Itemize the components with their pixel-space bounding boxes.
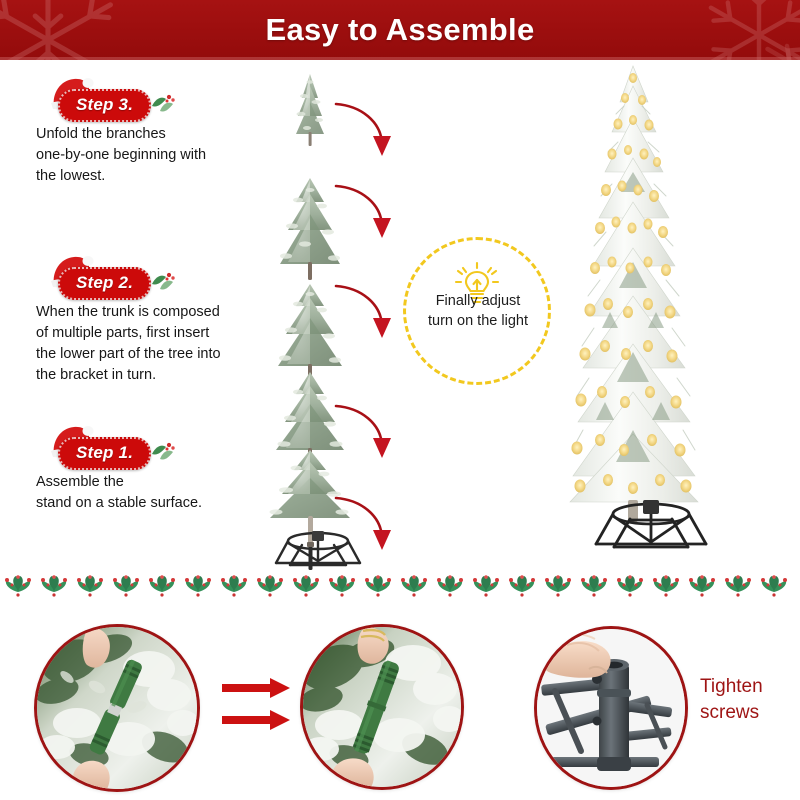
step-description-1: Assemble the stand on a stable surface.	[36, 472, 262, 514]
step-line: one-by-one beginning with	[36, 145, 262, 166]
holly-garland-pattern	[0, 572, 800, 598]
infographic-page: Easy to Assemble Step 3. Unfold the bran…	[0, 0, 800, 800]
step-line: When the trunk is composed	[36, 302, 262, 323]
flocked-branch-section-icon	[280, 178, 340, 280]
step-block-1: Step 1. Assemble the stand on a stable s…	[36, 428, 276, 514]
connector-photo-art	[37, 627, 197, 789]
step-badge-wrap-2: Step 2.	[36, 258, 226, 298]
right-arrow-icon	[222, 710, 292, 730]
flocked-pencil-tree-icon	[520, 62, 785, 532]
header-banner: Easy to Assemble	[0, 0, 800, 60]
step-block-3: Step 3. Unfold the branches one-by-one b…	[36, 80, 276, 187]
step-line: stand on a stable surface.	[36, 493, 262, 514]
step-description-3: Unfold the branches one-by-one beginning…	[36, 124, 262, 187]
tighten-line-2: screws	[700, 700, 796, 726]
step-block-2: Step 2. When the trunk is composed of mu…	[36, 258, 276, 386]
curved-down-arrow-icon	[332, 492, 398, 554]
light-connector-open-photo	[34, 624, 200, 792]
step-description-2: When the trunk is composed of multiple p…	[36, 302, 262, 386]
holly-garland-divider	[0, 572, 800, 598]
curved-down-arrow-icon	[332, 400, 398, 462]
step-badge-wrap-1: Step 1.	[36, 428, 226, 468]
step-line: the lowest.	[36, 166, 262, 187]
curved-down-arrow-icon	[332, 280, 398, 342]
holly-sprig-icon	[148, 438, 182, 464]
step-line: Assemble the	[36, 472, 262, 493]
tree-stand-icon	[580, 498, 722, 556]
light-connector-joined-photo	[300, 624, 464, 790]
stand-screw-tighten-photo	[534, 626, 688, 790]
connector-joined-art	[303, 627, 461, 787]
step-line: of multiple parts, first insert	[36, 323, 262, 344]
step-line: the lower part of the tree into	[36, 344, 262, 365]
curved-down-arrow-icon	[332, 180, 398, 242]
step-badge-3: Step 3.	[58, 89, 151, 122]
step-badge-2: Step 2.	[58, 267, 151, 300]
curved-down-arrow-icon	[332, 98, 398, 160]
flocked-branch-section-icon	[296, 74, 324, 146]
step-badge-wrap-3: Step 3.	[36, 80, 226, 120]
stand-screw-art	[537, 629, 685, 787]
right-arrow-icon	[222, 678, 292, 698]
step-line: the bracket in turn.	[36, 365, 262, 386]
holly-sprig-icon	[148, 268, 182, 294]
step-badge-1: Step 1.	[58, 437, 151, 470]
tighten-screws-label: Tighten screws	[700, 674, 796, 725]
step-line: Unfold the branches	[36, 124, 262, 145]
holly-sprig-icon	[148, 90, 182, 116]
page-title: Easy to Assemble	[0, 0, 800, 60]
tighten-line-1: Tighten	[700, 674, 796, 700]
